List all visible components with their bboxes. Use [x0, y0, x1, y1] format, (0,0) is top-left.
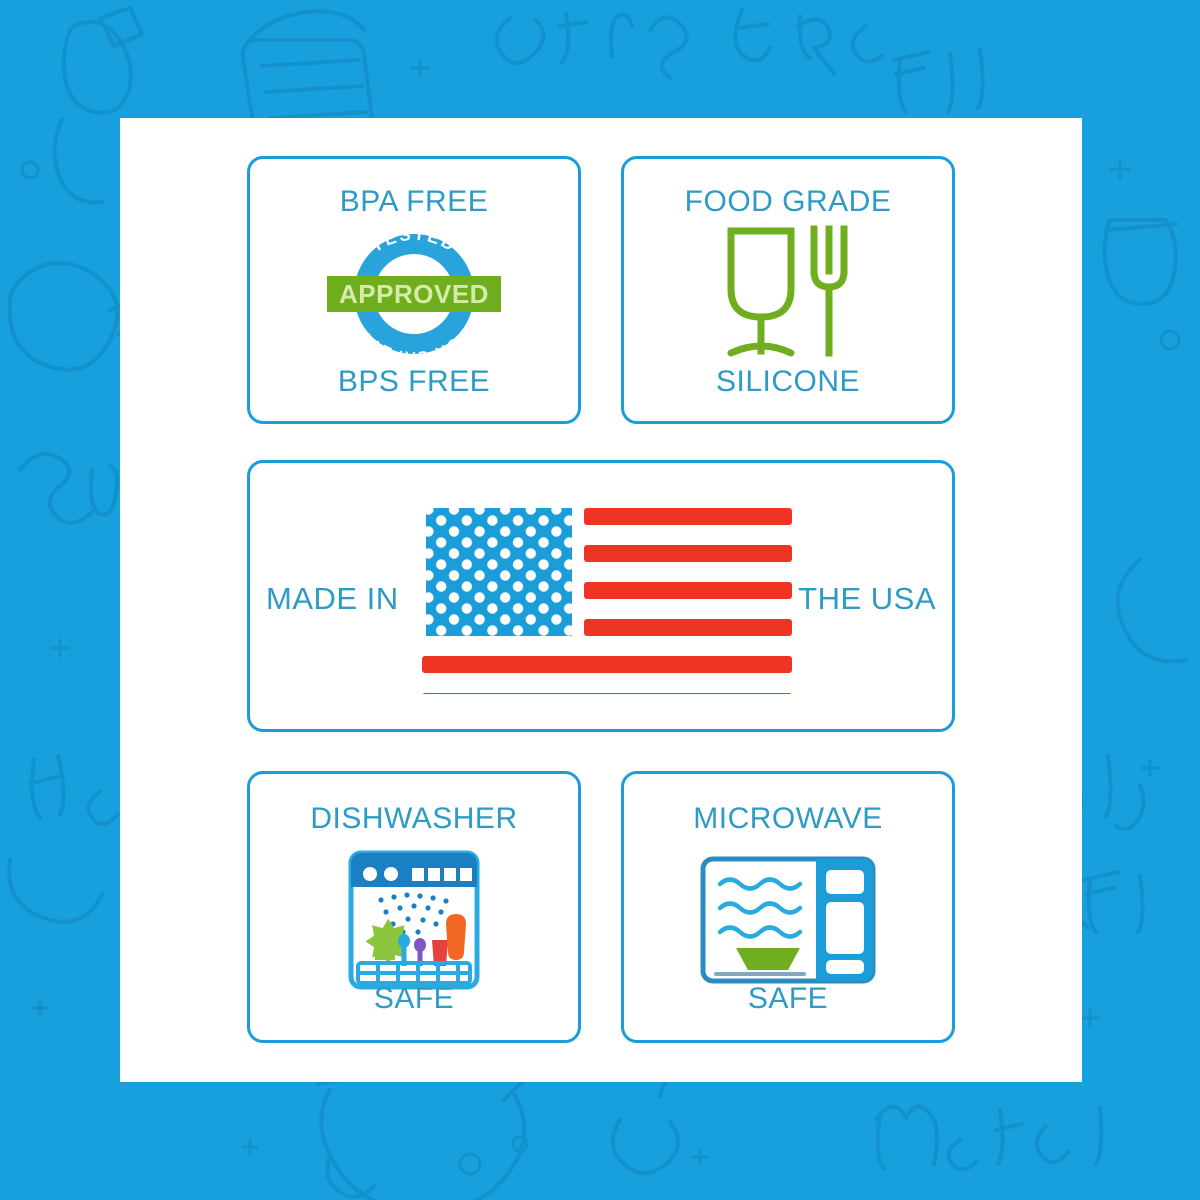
- seal-banner-text: APPROVED: [339, 279, 489, 309]
- microwave-icon: [700, 856, 876, 984]
- panel-microwave-subtitle: SAFE: [624, 982, 952, 1016]
- dishwasher-icon: [348, 850, 480, 990]
- usa-right-text: THE USA: [798, 581, 936, 617]
- approved-seal-icon: TESTED FOR SAFETY APPROVED: [327, 231, 501, 357]
- panel-food-grade: FOOD GRADE SILICONE: [621, 156, 955, 424]
- panel-bpa-subtitle: BPS FREE: [250, 365, 578, 399]
- panel-dishwasher-safe: DISHWASHER: [247, 771, 581, 1043]
- panel-dishwasher-subtitle: SAFE: [250, 982, 578, 1016]
- glass-and-fork-icon: [715, 221, 861, 367]
- usa-flag-icon: [422, 504, 792, 694]
- panel-food-title: FOOD GRADE: [624, 185, 952, 219]
- panel-microwave-safe: MICROWAVE SAFE: [621, 771, 955, 1043]
- usa-left-text: MADE IN: [266, 581, 399, 617]
- panel-made-in-usa: MADE IN THE USA: [247, 460, 955, 732]
- panel-microwave-title: MICROWAVE: [624, 802, 952, 836]
- panel-food-subtitle: SILICONE: [624, 365, 952, 399]
- feature-card: BPA FREE TESTED FOR SAFETY APPROVED BPS …: [120, 118, 1082, 1082]
- panel-dishwasher-title: DISHWASHER: [250, 802, 578, 836]
- panel-bpa-free: BPA FREE TESTED FOR SAFETY APPROVED BPS …: [247, 156, 581, 424]
- panel-bpa-title: BPA FREE: [250, 185, 578, 219]
